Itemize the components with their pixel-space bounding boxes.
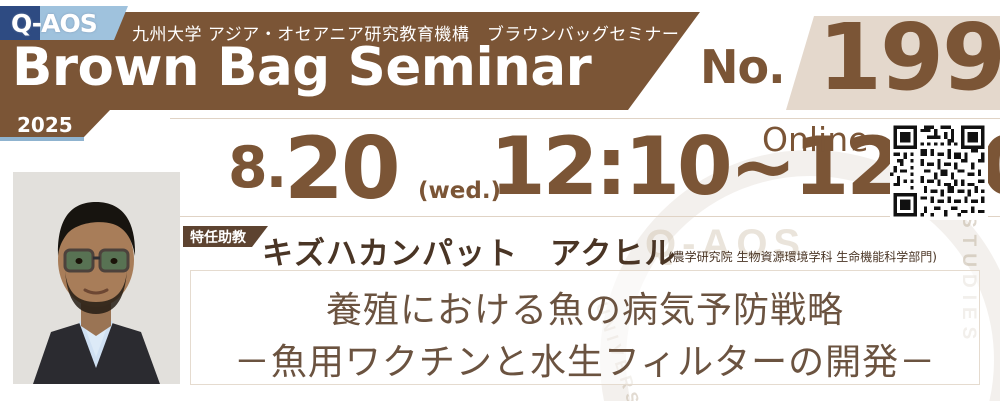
event-month: 8. — [228, 140, 285, 197]
year-tag-label: 2025 — [17, 113, 73, 137]
speaker-role-badge: 特任助教 — [183, 226, 268, 247]
speaker-role-label: 特任助教 — [190, 227, 246, 247]
year-tag-underline — [0, 137, 84, 141]
qr-code[interactable] — [890, 122, 988, 220]
talk-title-line-2: －魚用ワクチンと水生フィルターの開発－ — [190, 333, 980, 385]
event-day-of-week: (wed.) — [418, 178, 501, 204]
event-venue: Online — [762, 120, 868, 159]
seminar-poster: Q-AOS STUDIES UNIVERSITY 九州大学 アジア・オセアニア研… — [0, 0, 1000, 401]
speaker-name: キズハカンパット アクヒル — [262, 228, 676, 273]
qaos-logo: Q-AOS — [0, 0, 128, 40]
issue-label: No. — [700, 40, 785, 94]
event-day: 20 — [284, 126, 398, 212]
speaker-affiliation: (農学研究院 生物資源環境学科 生命機能科学部門) — [668, 248, 937, 265]
issue-number: 199 — [818, 12, 1000, 104]
page-title: Brown Bag Seminar — [12, 41, 591, 94]
speaker-photo — [13, 172, 180, 384]
talk-title-line-1: 養殖における魚の病気予防戦略 — [190, 281, 980, 333]
logo-text: Q-AOS — [11, 9, 97, 38]
